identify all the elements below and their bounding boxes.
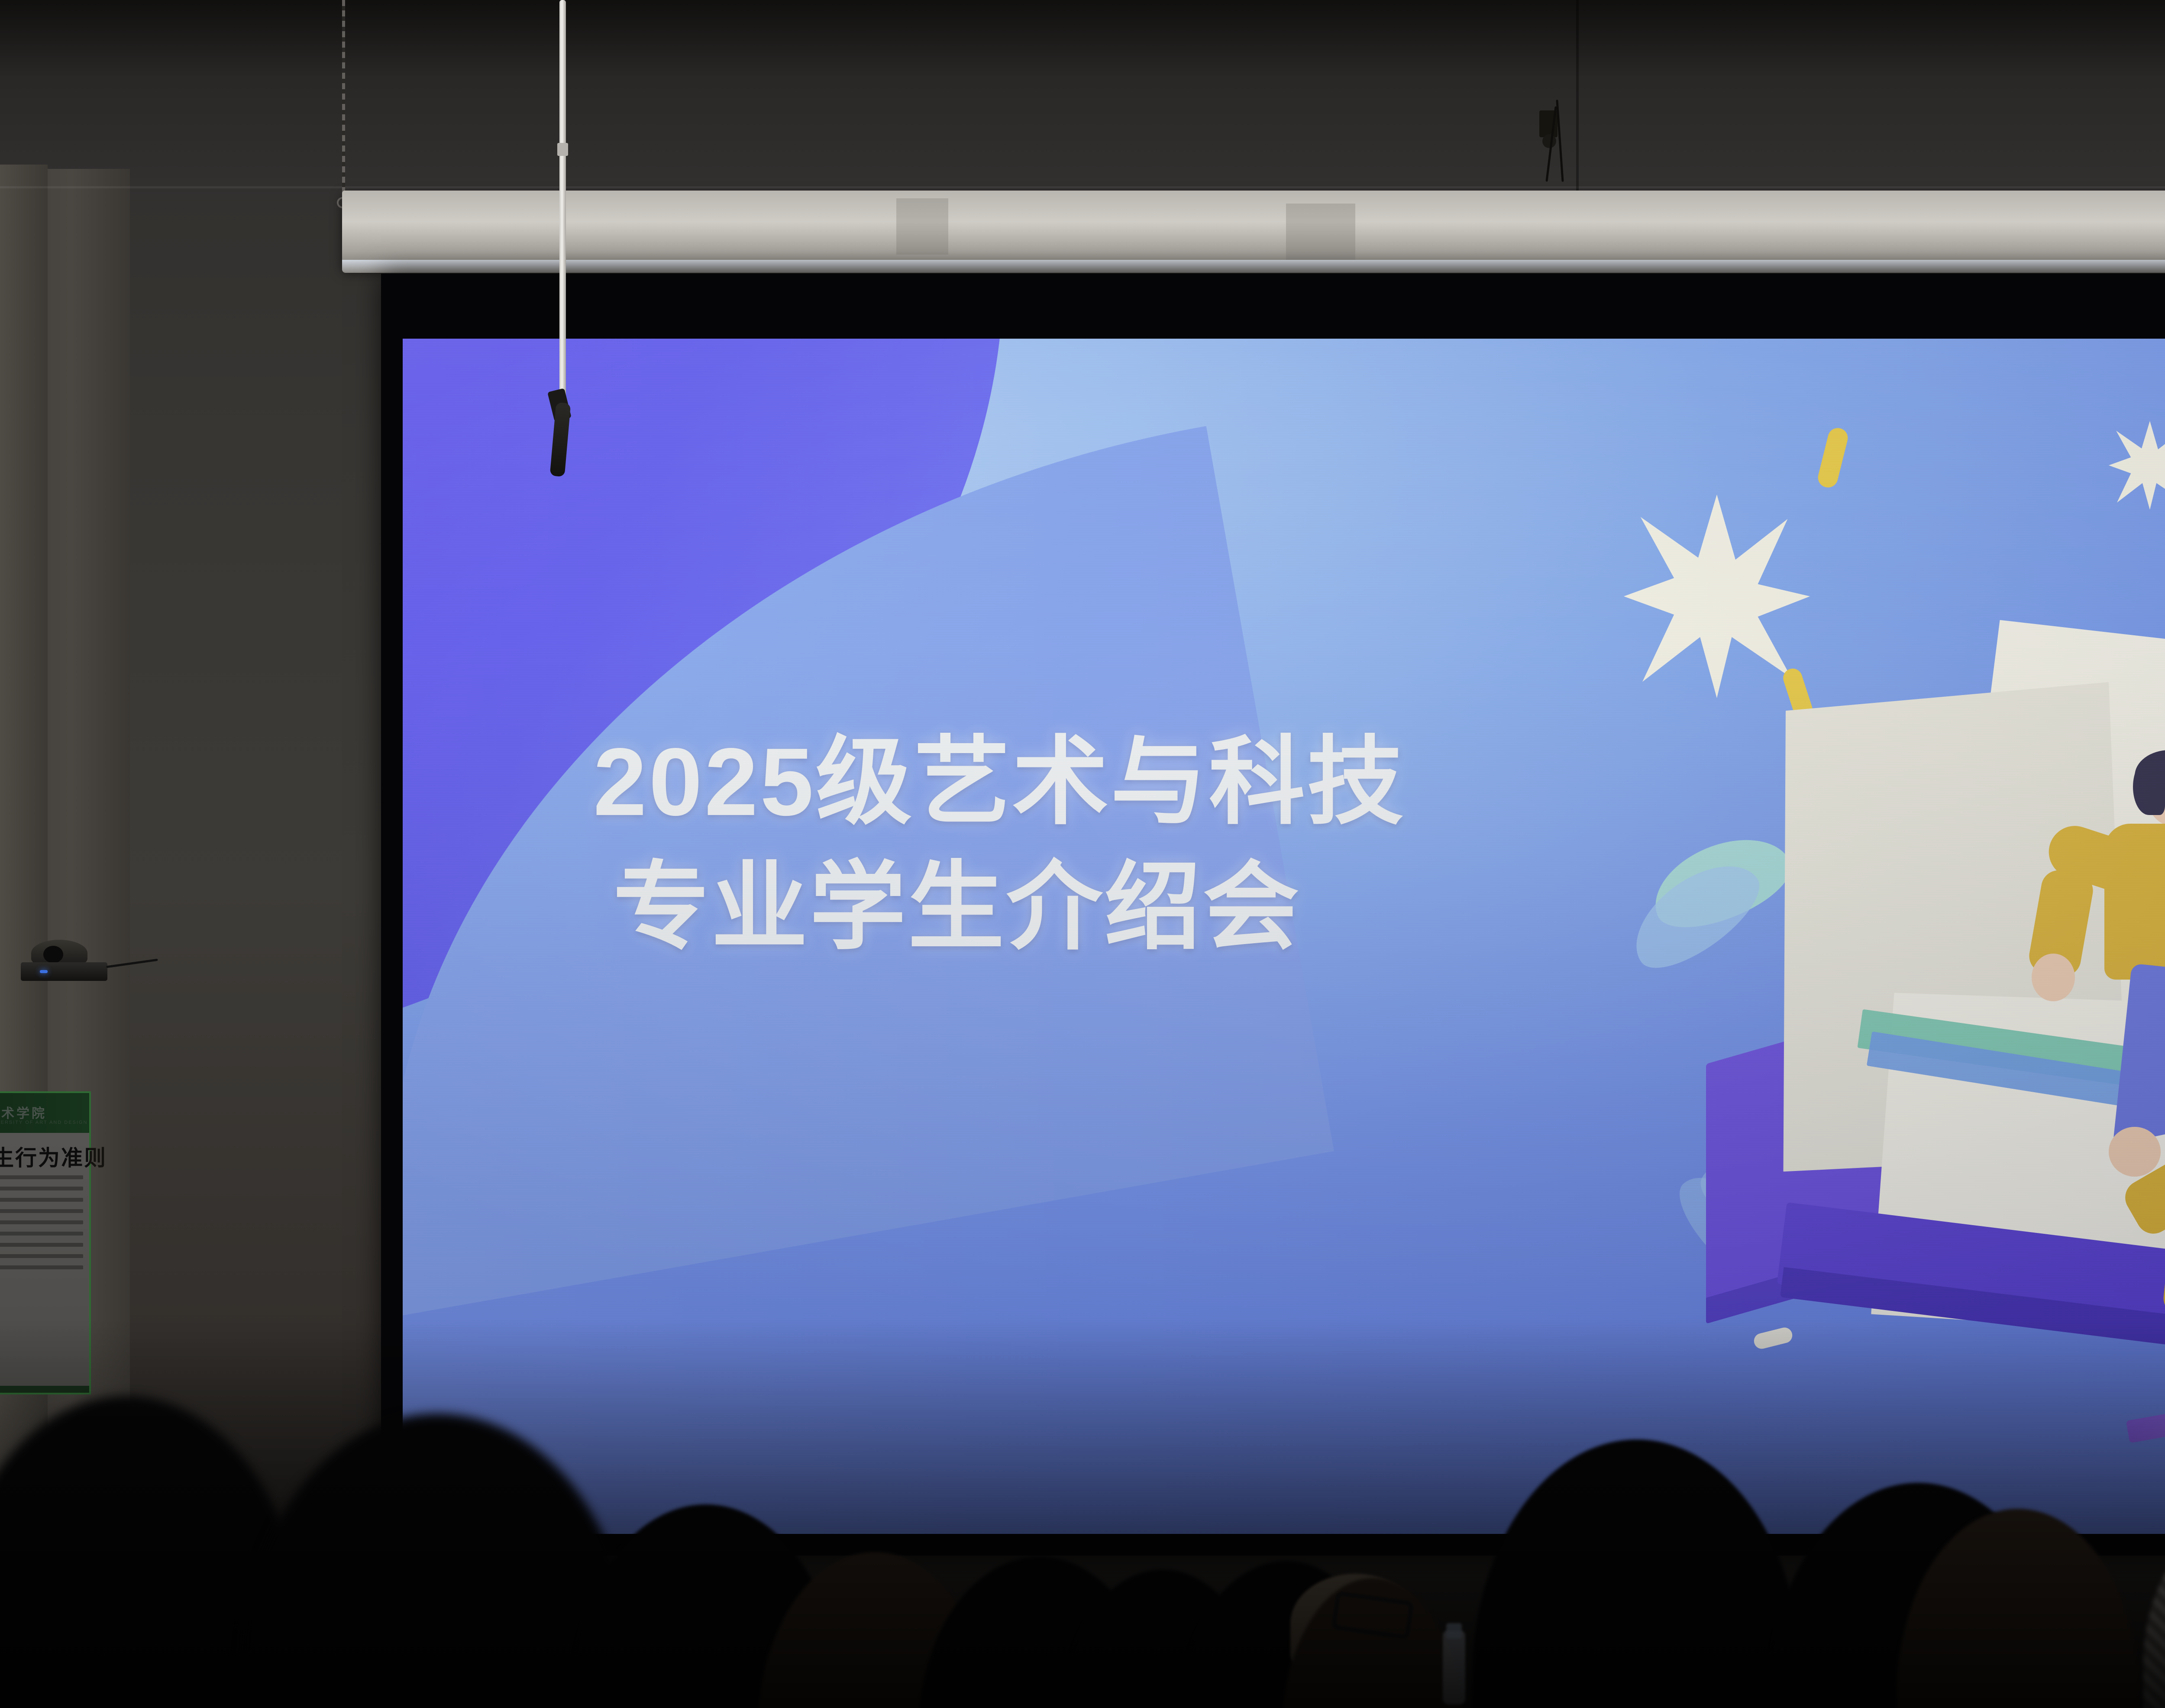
poster-banner-cn: 南京艺术学院	[0, 1103, 47, 1122]
wall-outlet-plug	[1542, 134, 1556, 148]
lecture-hall-photo: 南京艺术学院 NANJING UNIVERSITY OF ART AND DES…	[0, 0, 2165, 1708]
student-code-of-conduct-poster: 南京艺术学院 NANJING UNIVERSITY OF ART AND DES…	[0, 1091, 91, 1394]
ceiling-shadow	[0, 0, 2165, 78]
ceiling-chain-left	[342, 0, 345, 204]
slide-illustration	[1598, 369, 2165, 1512]
pencil-purple	[2126, 1379, 2165, 1443]
poster-banner-en: NANJING UNIVERSITY OF ART AND DESIGN	[0, 1120, 87, 1125]
presentation-slide: 2025级艺术与科技 专业学生介绍会	[403, 339, 2165, 1534]
slide-title-line-2: 专业学生介绍会	[593, 845, 1632, 970]
ptz-camera-led-indicator	[40, 970, 48, 973]
figure3-hand-up	[2109, 1127, 2161, 1177]
wall-ptz-camera[interactable]	[21, 940, 107, 981]
starburst-left	[1624, 495, 1810, 698]
starburst-small-top	[2109, 421, 2165, 510]
ptz-camera-lens-icon	[43, 946, 63, 963]
pull-rod-joint	[557, 143, 568, 156]
poster-footer-bar	[0, 1386, 89, 1393]
ptz-camera-base	[21, 962, 107, 981]
slide-title-line-1: 2025级艺术与科技	[593, 720, 1632, 845]
figure1-hand-left	[2032, 954, 2075, 1001]
housing-smudge-b	[1286, 204, 1355, 260]
slide-title-block: 2025级艺术与科技 专业学生介绍会	[593, 720, 1632, 970]
confetti-cream-1	[1752, 1326, 1794, 1351]
confetti-yellow-1	[1816, 426, 1850, 490]
left-wall-face	[0, 165, 48, 1708]
wall-trim-vertical	[1576, 0, 1579, 191]
poster-title: 校学生行为准则	[0, 1141, 107, 1172]
housing-smudge-a	[896, 198, 948, 255]
figure1-hair-side	[2133, 759, 2165, 815]
wall-seam-upper	[0, 186, 2165, 188]
poster-body-text	[0, 1175, 83, 1277]
projector-screen-housing[interactable]	[342, 191, 2165, 268]
screen-pull-rod[interactable]	[559, 0, 566, 416]
poster-banner: 南京艺术学院 NANJING UNIVERSITY OF ART AND DES…	[0, 1093, 89, 1133]
housing-lip	[342, 260, 2165, 273]
